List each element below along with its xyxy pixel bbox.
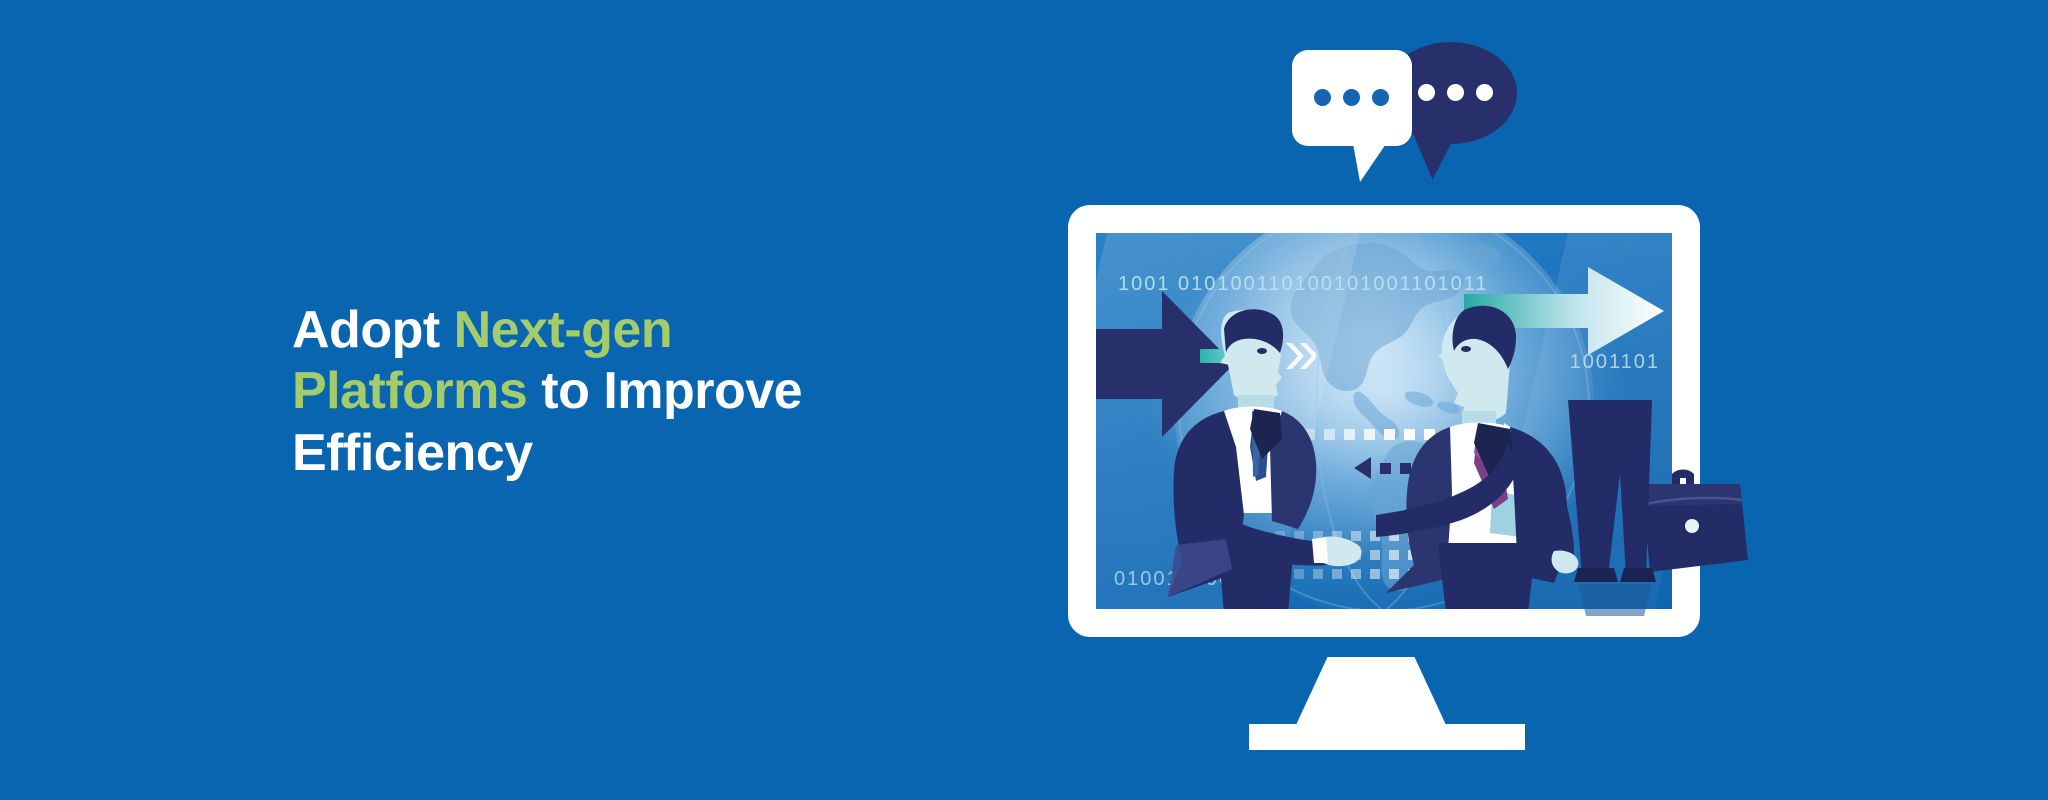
headline-line-2: Platforms to Improve — [292, 361, 972, 422]
headline-segment-nextgen: Next-gen — [454, 301, 672, 359]
monitor-stand-neck — [1296, 657, 1446, 725]
dot — [1372, 89, 1389, 106]
headline-segment-adopt: Adopt — [292, 301, 454, 359]
headline-line-1: Adopt Next-gen — [292, 300, 972, 361]
hero-banner: Adopt Next-gen Platforms to Improve Effi… — [0, 0, 2048, 800]
light-bubble-dots — [1314, 89, 1389, 106]
chat-bubbles-group — [1290, 38, 1520, 178]
monitor-stand-base — [1249, 724, 1525, 750]
dark-bubble-dots — [1418, 84, 1493, 101]
headline-segment-toimprove: to Improve — [527, 362, 802, 420]
dot — [1476, 84, 1493, 101]
businessman-right-foreground — [1534, 400, 1794, 800]
dot — [1418, 84, 1435, 101]
dot — [1447, 84, 1464, 101]
bubble-overlap-highlight — [1385, 50, 1412, 146]
businessman-left — [1132, 307, 1372, 609]
briefcase-icon — [1642, 470, 1748, 573]
headline-segment-efficiency: Efficiency — [292, 424, 533, 482]
headline-line-3: Efficiency — [292, 423, 972, 484]
dot — [1314, 89, 1331, 106]
dot — [1343, 89, 1360, 106]
page-title: Adopt Next-gen Platforms to Improve Effi… — [292, 300, 972, 484]
dark-speech-bubble-tail — [1414, 131, 1463, 181]
headline-segment-platforms: Platforms — [292, 362, 527, 420]
